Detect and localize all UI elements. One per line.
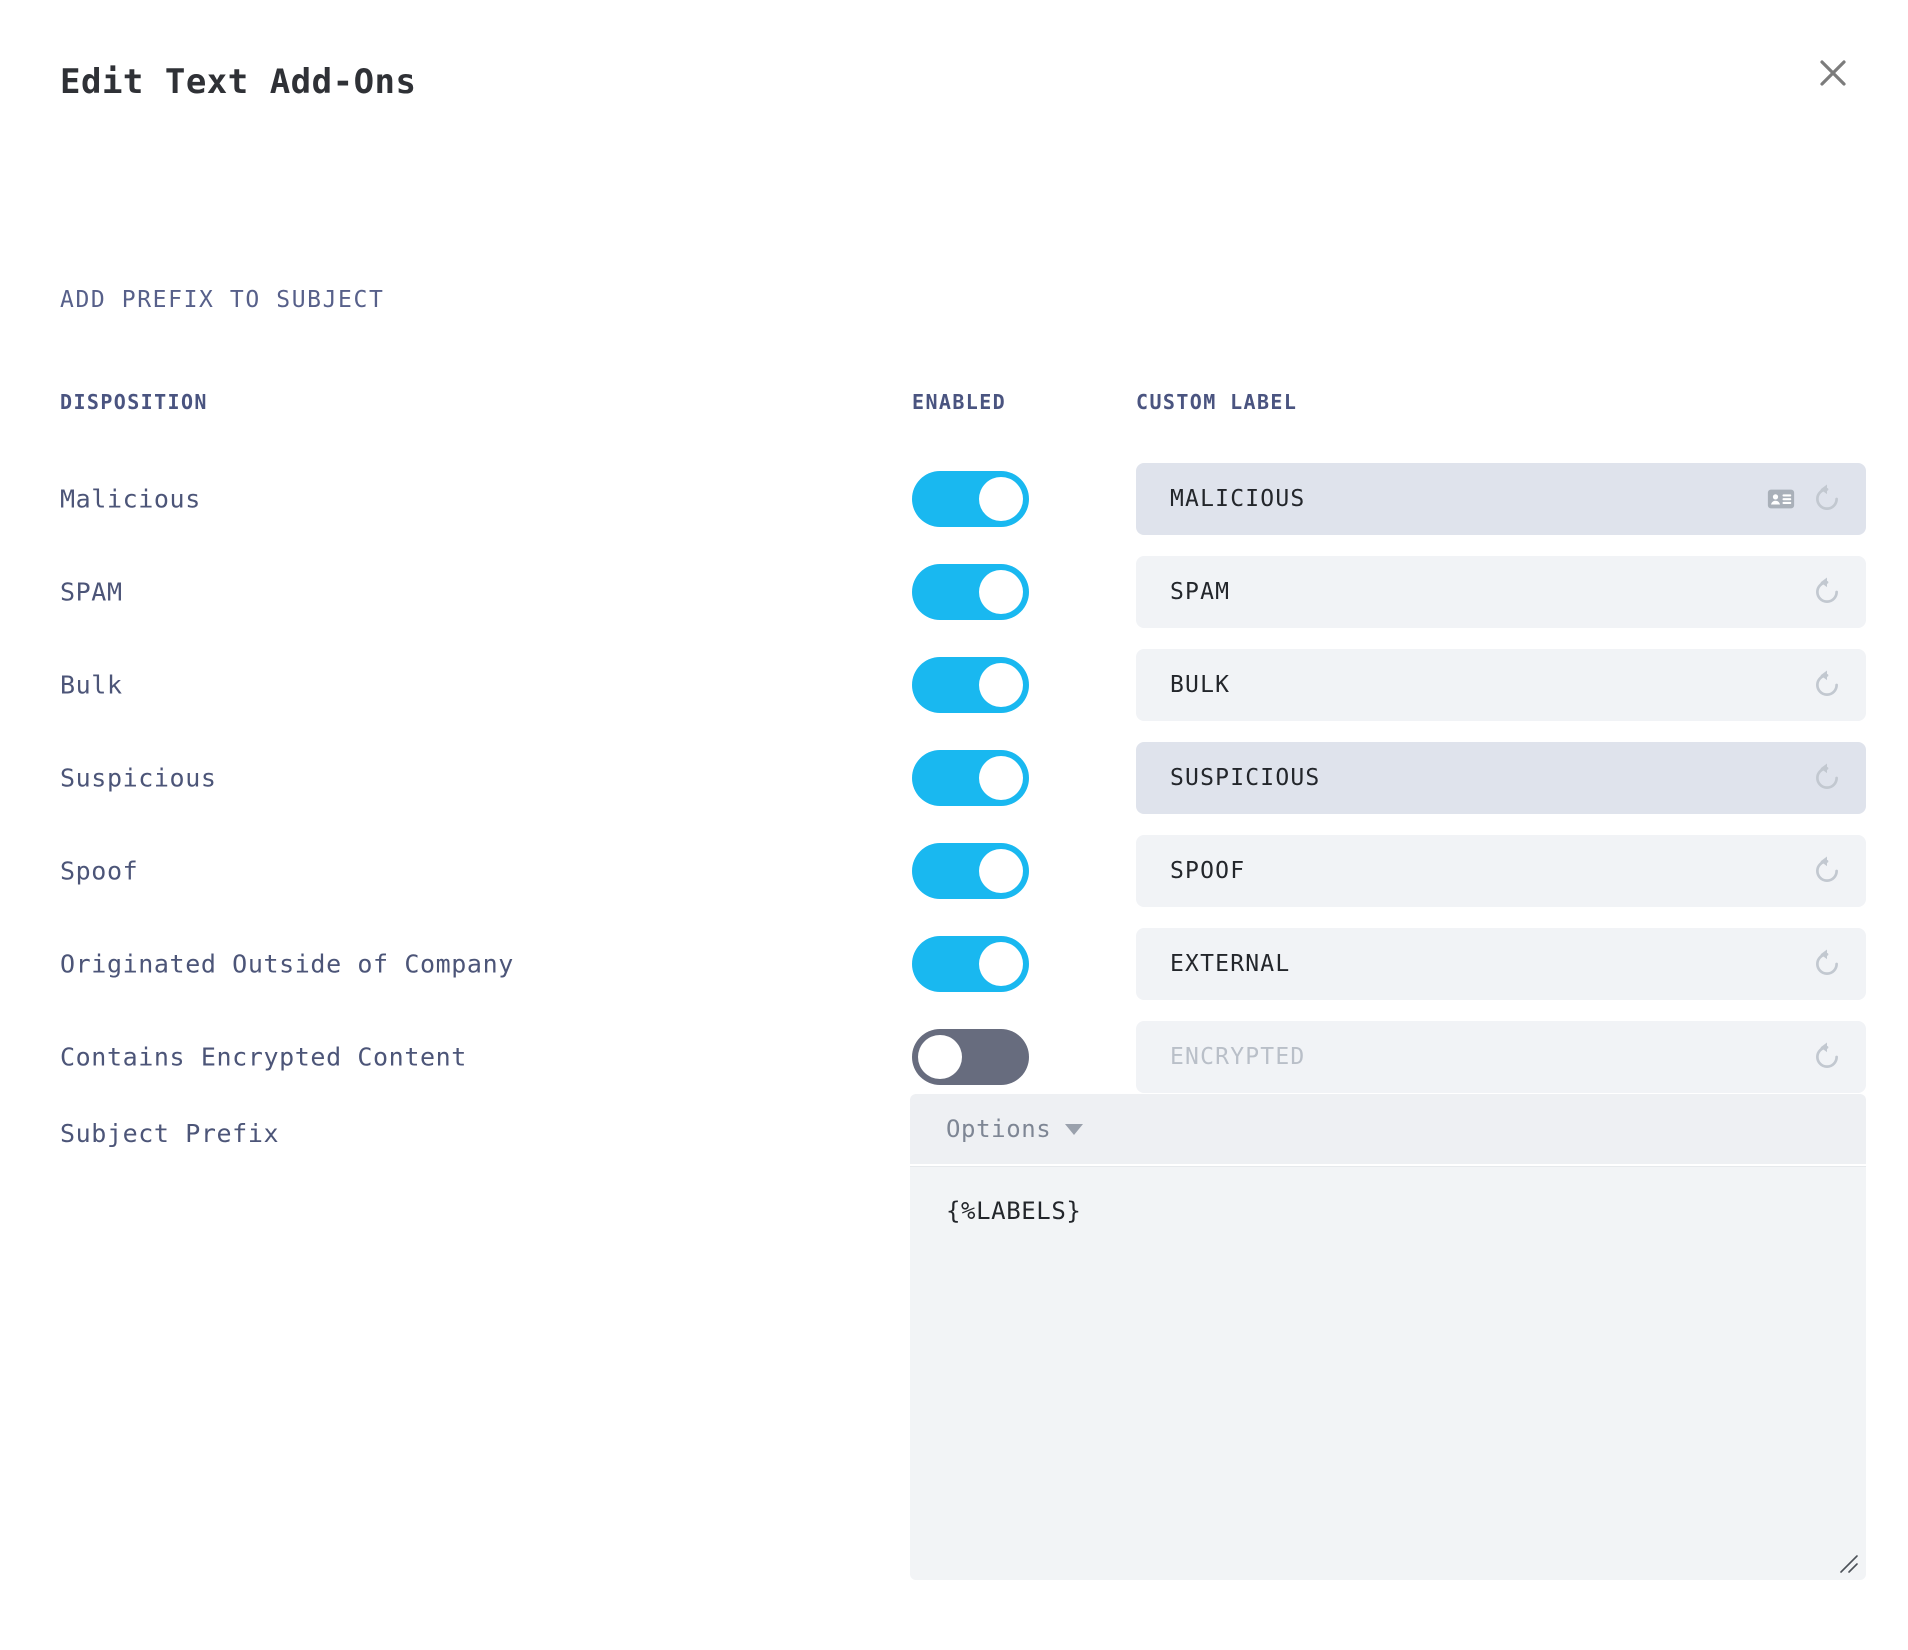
toggle-knob (918, 1035, 962, 1079)
custom-label-value: SPOOF (1170, 858, 1810, 884)
custom-label-value: BULK (1170, 672, 1810, 698)
reset-icon[interactable] (1810, 761, 1844, 795)
reset-icon[interactable] (1810, 947, 1844, 981)
disposition-label: Contains Encrypted Content (60, 1042, 467, 1071)
field-icon-group (1810, 1040, 1844, 1074)
field-icon-group (1810, 947, 1844, 981)
options-dropdown[interactable]: Options (910, 1094, 1866, 1164)
table-row: Originated Outside of CompanyEXTERNAL (0, 917, 1908, 1010)
field-icon-group (1810, 854, 1844, 888)
column-header-enabled: ENABLED (912, 390, 1006, 414)
disposition-label: Suspicious (60, 763, 217, 792)
custom-label-input[interactable]: SUSPICIOUS (1136, 742, 1866, 814)
custom-label-input[interactable]: MALICIOUS (1136, 463, 1866, 535)
enabled-toggle[interactable] (912, 471, 1029, 527)
column-header-custom-label: CUSTOM LABEL (1136, 390, 1297, 414)
custom-label-value: EXTERNAL (1170, 951, 1810, 977)
edit-text-addons-modal: Edit Text Add-Ons ADD PREFIX TO SUBJECT … (0, 0, 1908, 1650)
enabled-toggle[interactable] (912, 657, 1029, 713)
reset-icon (1810, 1040, 1844, 1074)
column-header-disposition: DISPOSITION (60, 390, 208, 414)
reset-icon[interactable] (1810, 482, 1844, 516)
toggle-knob (979, 849, 1023, 893)
field-icon-group (1766, 482, 1844, 516)
toggle-knob (979, 942, 1023, 986)
table-row: SPAMSPAM (0, 545, 1908, 638)
options-dropdown-label: Options (946, 1115, 1051, 1143)
enabled-toggle[interactable] (912, 750, 1029, 806)
enabled-toggle[interactable] (912, 843, 1029, 899)
section-header-add-prefix-to-subject: ADD PREFIX TO SUBJECT (60, 287, 384, 313)
subject-prefix-value: {%LABELS} (946, 1197, 1081, 1225)
enabled-toggle[interactable] (912, 1029, 1029, 1085)
close-icon[interactable] (1806, 46, 1860, 100)
enabled-toggle[interactable] (912, 564, 1029, 620)
custom-label-value: ENCRYPTED (1170, 1044, 1810, 1070)
table-row: SpoofSPOOF (0, 824, 1908, 917)
field-icon-group (1810, 668, 1844, 702)
table-row: SuspiciousSUSPICIOUS (0, 731, 1908, 824)
custom-label-value: SUSPICIOUS (1170, 765, 1810, 791)
custom-label-value: SPAM (1170, 579, 1810, 605)
custom-label-value: MALICIOUS (1170, 486, 1766, 512)
field-icon-group (1810, 575, 1844, 609)
disposition-label: Originated Outside of Company (60, 949, 514, 978)
reset-icon[interactable] (1810, 668, 1844, 702)
enabled-toggle[interactable] (912, 936, 1029, 992)
disposition-label: Bulk (60, 670, 123, 699)
page-title: Edit Text Add-Ons (60, 62, 417, 102)
subject-prefix-textarea[interactable]: {%LABELS} (910, 1166, 1866, 1580)
subject-prefix-label: Subject Prefix (60, 1119, 279, 1148)
toggle-knob (979, 570, 1023, 614)
disposition-label: SPAM (60, 577, 123, 606)
resize-handle-icon[interactable] (1837, 1552, 1859, 1574)
disposition-label: Malicious (60, 484, 201, 513)
custom-label-input[interactable]: EXTERNAL (1136, 928, 1866, 1000)
custom-label-input[interactable]: BULK (1136, 649, 1866, 721)
toggle-knob (979, 477, 1023, 521)
disposition-label: Spoof (60, 856, 138, 885)
custom-label-input[interactable]: SPOOF (1136, 835, 1866, 907)
disposition-rows: MaliciousMALICIOUSSPAMSPAMBulkBULKSuspic… (0, 452, 1908, 1103)
reset-icon[interactable] (1810, 854, 1844, 888)
chevron-down-icon (1065, 1124, 1083, 1135)
contact-card-icon[interactable] (1766, 484, 1796, 514)
table-row: MaliciousMALICIOUS (0, 452, 1908, 545)
custom-label-input[interactable]: SPAM (1136, 556, 1866, 628)
table-column-headers: DISPOSITION ENABLED CUSTOM LABEL (0, 390, 1908, 420)
field-icon-group (1810, 761, 1844, 795)
custom-label-input: ENCRYPTED (1136, 1021, 1866, 1093)
table-row: BulkBULK (0, 638, 1908, 731)
reset-icon[interactable] (1810, 575, 1844, 609)
toggle-knob (979, 663, 1023, 707)
table-row: Contains Encrypted ContentENCRYPTED (0, 1010, 1908, 1103)
toggle-knob (979, 756, 1023, 800)
